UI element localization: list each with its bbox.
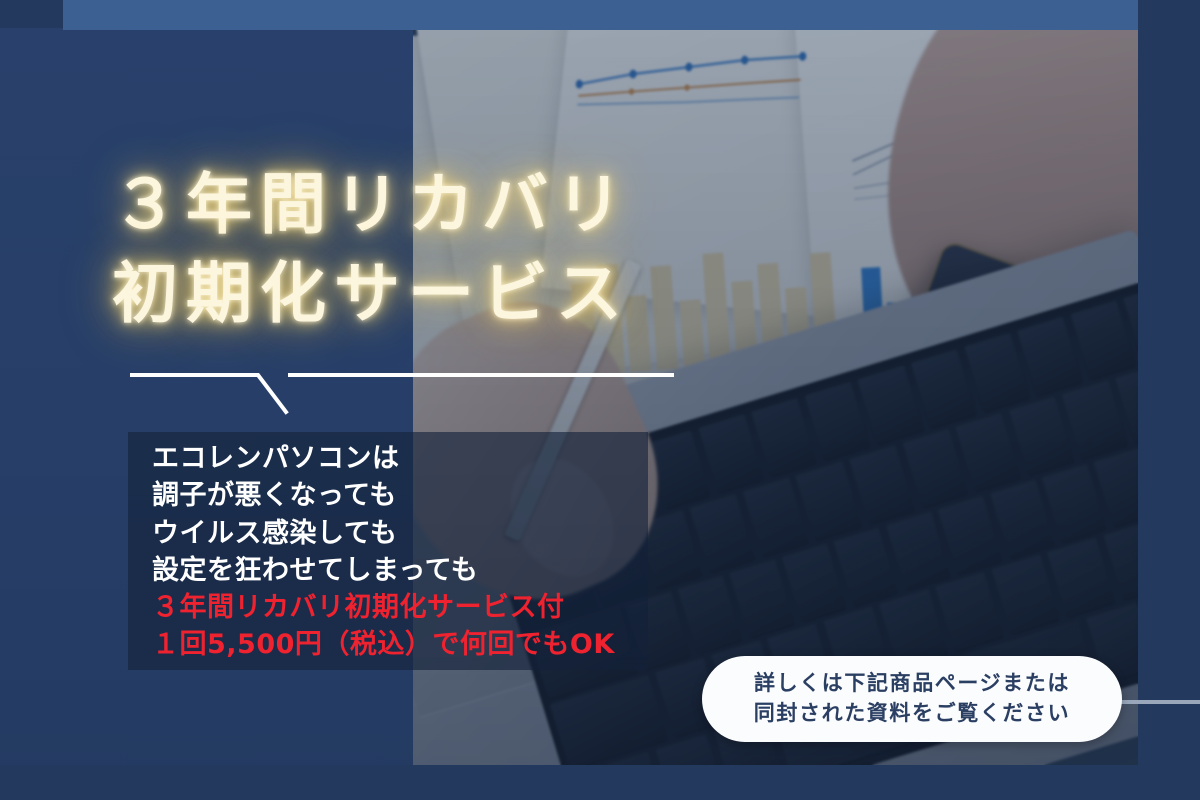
body-line-3: ウイルス感染しても [152,515,672,552]
headline-line-2: 初期化サービス [112,249,872,338]
body-line-1: エコレンパソコンは [152,440,672,477]
pill-line-2: 同封された資料をご覧ください [754,699,1070,729]
headline-line-1: ３年間リカバリ [112,166,630,243]
body-line-2: 調子が悪くなっても [152,477,672,514]
headline: ３年間リカバリ 初期化サービス [112,160,872,338]
body-highlight-line-2: １回5,500円（税込）で何回でもOK [152,626,672,663]
body-highlight-line-1: ３年間リカバリ初期化サービス付 [152,589,672,626]
callout-pill[interactable]: 詳しくは下記商品ページまたは 同封された資料をご覧ください [702,656,1122,742]
banner-canvas: ３年間リカバリ 初期化サービス エコレンパソコンは 調子が悪くなっても ウイルス… [0,0,1200,800]
top-accent-bar [63,0,1138,30]
body-line-4: 設定を狂わせてしまっても [152,552,672,589]
pill-line-1: 詳しくは下記商品ページまたは [754,669,1070,699]
body-text: エコレンパソコンは 調子が悪くなっても ウイルス感染しても 設定を狂わせてしまっ… [152,440,672,664]
